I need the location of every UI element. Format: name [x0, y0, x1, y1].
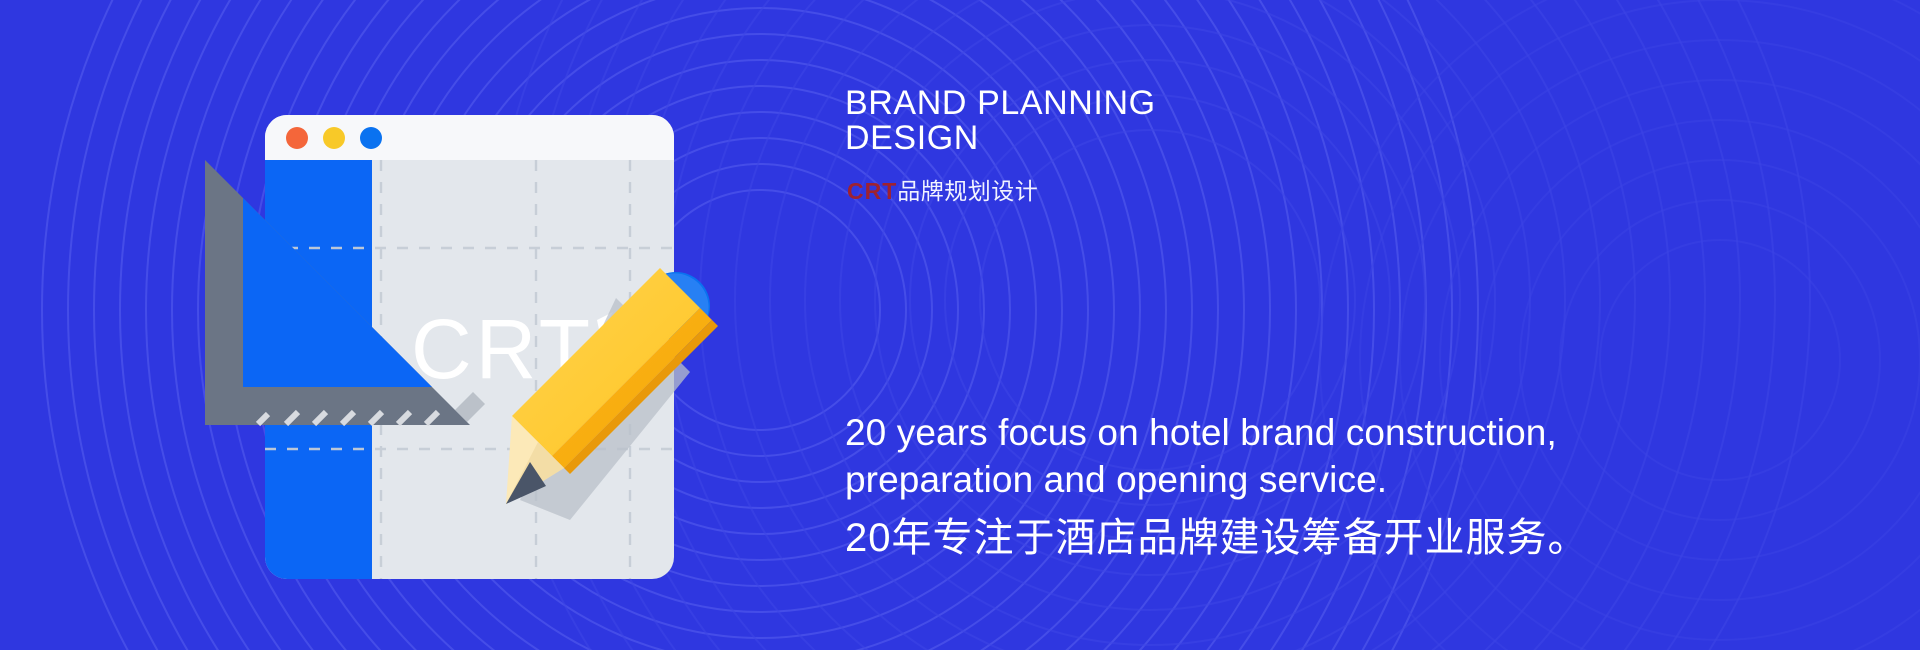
copy-column: BRAND PLANNING DESIGN CRT品牌规划设计 20 years… [845, 0, 1845, 650]
minimize-dot [323, 127, 345, 149]
hero-illustration: CRT [0, 0, 820, 650]
maximize-dot [360, 127, 382, 149]
brand-banner: CRT [0, 0, 1920, 650]
close-dot [286, 127, 308, 149]
eyebrow-heading: BRAND PLANNING DESIGN [845, 86, 1265, 156]
headline-chinese: 20年专注于酒店品牌建设筹备开业服务。 [845, 514, 1589, 562]
subtitle-line: CRT品牌规划设计 [847, 172, 1038, 206]
subtitle-chinese: 品牌规划设计 [897, 178, 1038, 204]
headline-english: 20 years focus on hotel brand constructi… [845, 410, 1665, 503]
brand-mark-text: CRT [847, 178, 897, 204]
